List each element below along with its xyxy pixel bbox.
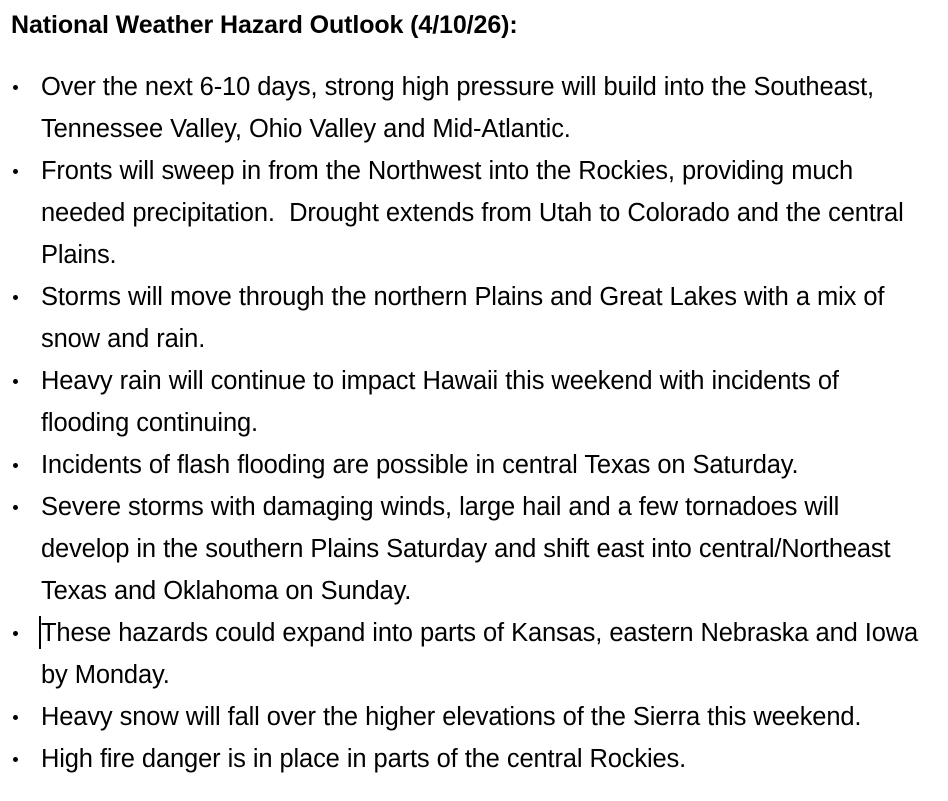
list-item-text: Fronts will sweep in from the Northwest … [41,150,930,276]
bullet-icon [13,276,20,318]
list-item[interactable]: High fire danger is in place in parts of… [0,738,948,780]
bullet-icon [13,738,20,780]
list-item[interactable]: Over the next 6-10 days, strong high pre… [0,66,948,150]
list-item[interactable]: Heavy rain will continue to impact Hawai… [0,360,948,444]
list-item[interactable]: Incidents of flash flooding are possible… [0,444,948,486]
list-item[interactable]: Storms will move through the northern Pl… [0,276,948,360]
document-body[interactable]: National Weather Hazard Outlook (4/10/26… [0,0,948,801]
list-item[interactable]: Severe storms with damaging winds, large… [0,486,948,612]
bullet-icon [13,612,20,654]
bullet-icon [13,150,20,192]
list-item-text: Heavy rain will continue to impact Hawai… [41,360,930,444]
list-item-text: These hazards could expand into parts of… [41,612,930,696]
page-title: National Weather Hazard Outlook (4/10/26… [11,8,518,42]
list-item-text: Incidents of flash flooding are possible… [41,444,930,486]
bullet-icon [13,360,20,402]
list-item-text: Over the next 6-10 days, strong high pre… [41,66,930,150]
list-item[interactable]: Heavy snow will fall over the higher ele… [0,696,948,738]
hazard-bullet-list: Over the next 6-10 days, strong high pre… [0,66,948,780]
list-item[interactable]: These hazards could expand into parts of… [0,612,948,696]
list-item-text: Severe storms with damaging winds, large… [41,486,930,612]
bullet-icon [13,486,20,528]
list-item-text: Heavy snow will fall over the higher ele… [41,696,930,738]
list-item[interactable]: Fronts will sweep in from the Northwest … [0,150,948,276]
list-item-text: High fire danger is in place in parts of… [41,738,930,780]
bullet-icon [13,444,20,486]
list-item-text: Storms will move through the northern Pl… [41,276,930,360]
bullet-icon [13,66,20,108]
bullet-icon [13,696,20,738]
